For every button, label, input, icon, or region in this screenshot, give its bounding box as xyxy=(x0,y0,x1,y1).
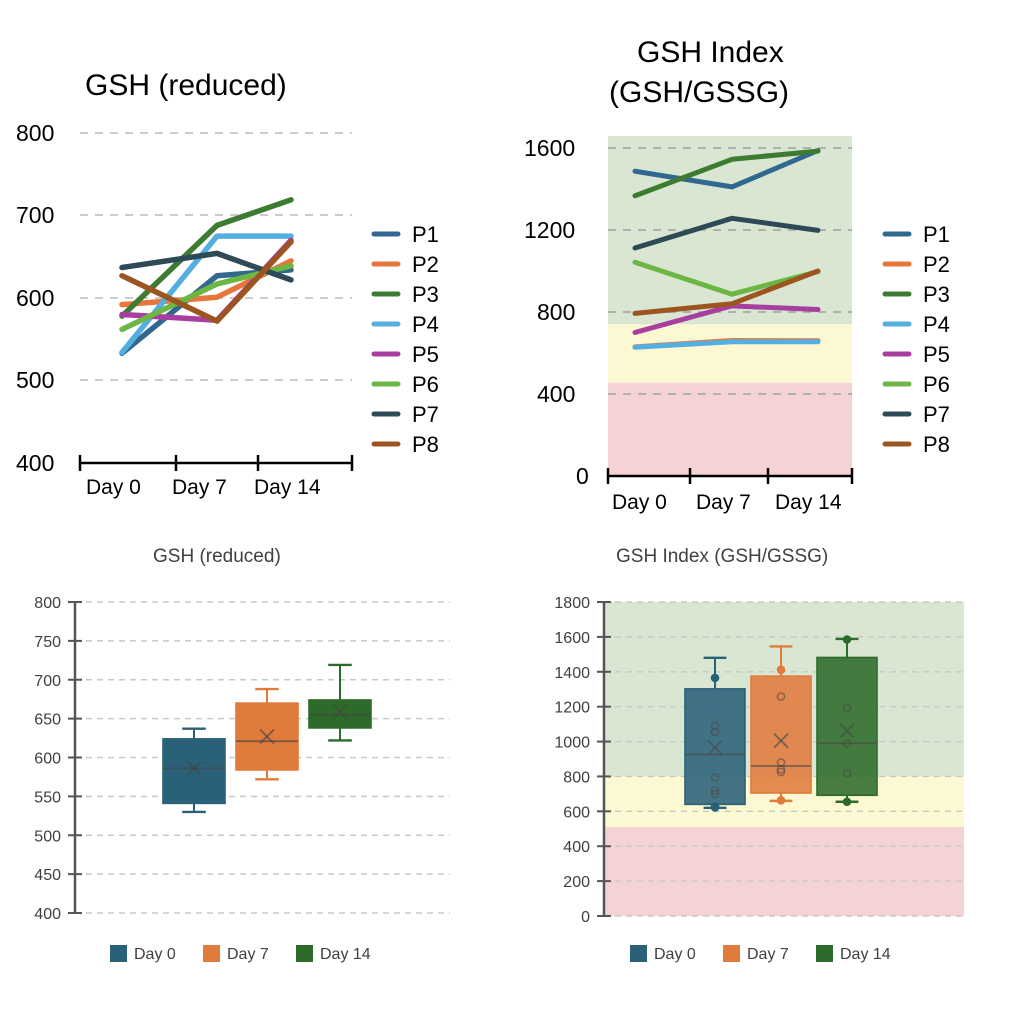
bottom-left-ytick-label: 600 xyxy=(34,751,61,768)
bottom-left-box-day-0 xyxy=(163,729,225,812)
legend-label-day-14: Day 14 xyxy=(840,946,891,963)
svg-text:Day 7: Day 7 xyxy=(696,491,751,514)
top-left-series-p1 xyxy=(122,270,291,353)
bottom-left-ytick-labels: 800750700650600550500450400 xyxy=(34,595,61,923)
bottom-left-ytick-label: 800 xyxy=(34,595,61,612)
top-left-legend-label-p5: P5 xyxy=(412,342,439,367)
bottom-left-title: GSH (reduced) xyxy=(153,546,281,567)
legend-label-day-0: Day 0 xyxy=(654,946,696,963)
legend-swatch-day-0 xyxy=(110,945,127,962)
legend-label-day-7: Day 7 xyxy=(227,946,269,963)
data-point xyxy=(843,798,850,805)
svg-text:1600: 1600 xyxy=(524,135,575,161)
legend-label-day-0: Day 0 xyxy=(134,946,176,963)
legend-label-day-7: Day 7 xyxy=(747,946,789,963)
bottom-left-ytick-label: 550 xyxy=(34,789,61,806)
top-right-legend-label-p4: P4 xyxy=(923,312,950,337)
top-right-legend-label-p3: P3 xyxy=(923,282,950,307)
top-left-legend-label-p7: P7 xyxy=(412,402,439,427)
top-left-xaxis xyxy=(80,455,352,471)
top-right-band-low xyxy=(608,383,852,476)
bottom-left-box-day-14 xyxy=(309,665,371,740)
bottom-right-ytick-label: 1000 xyxy=(554,735,590,752)
top-right-legend: P1P2P3P4P5P6P7P8 xyxy=(885,222,950,457)
top-right-legend-label-p2: P2 xyxy=(923,252,950,277)
panel-bottom-right-box-chart: GSH Index (GSH/GSSG) 1800160014001200100… xyxy=(500,520,1015,1024)
top-left-legend-label-p3: P3 xyxy=(412,282,439,307)
bottom-right-title: GSH Index (GSH/GSSG) xyxy=(616,546,828,567)
bottom-right-box-day-14 xyxy=(817,636,877,805)
svg-text:800: 800 xyxy=(537,299,575,325)
top-left-legend-label-p4: P4 xyxy=(412,312,439,337)
top-left-title: GSH (reduced) xyxy=(85,69,287,102)
svg-text:Day 0: Day 0 xyxy=(612,491,667,514)
bottom-right-ytick-label: 1600 xyxy=(554,630,590,647)
bottom-left-ytick-label: 500 xyxy=(34,828,61,845)
top-right-legend-label-p1: P1 xyxy=(923,222,950,247)
svg-text:500: 500 xyxy=(16,367,54,393)
top-right-band-borderline xyxy=(608,324,852,382)
svg-text:Day 14: Day 14 xyxy=(775,491,842,514)
top-right-ytick-labels: 1600 1200 800 400 0 xyxy=(524,135,589,489)
top-right-title-line1: GSH Index xyxy=(637,36,784,69)
top-right-legend-label-p7: P7 xyxy=(923,402,950,427)
bottom-right-ytick-label: 800 xyxy=(563,769,590,786)
bottom-right-ytick-label: 400 xyxy=(563,839,590,856)
top-right-legend-label-p8: P8 xyxy=(923,432,950,457)
bottom-right-legend: Day 0Day 7Day 14 xyxy=(630,945,891,963)
legend-swatch-day-7 xyxy=(723,945,740,962)
svg-text:Day 0: Day 0 xyxy=(86,476,141,499)
bottom-right-band-low xyxy=(604,827,964,916)
top-right-svg: GSH Index (GSH/GSSG) 1600 1200 800 400 0… xyxy=(500,0,1015,520)
bottom-left-ytick-label: 400 xyxy=(34,906,61,923)
top-left-legend-label-p8: P8 xyxy=(412,432,439,457)
svg-text:400: 400 xyxy=(16,450,54,476)
top-right-title-line2: (GSH/GSSG) xyxy=(609,76,789,109)
top-right-xcat-labels: Day 0 Day 7 Day 14 xyxy=(612,491,842,514)
bottom-right-ytick-label: 1400 xyxy=(554,665,590,682)
bottom-left-ytick-label: 650 xyxy=(34,712,61,729)
svg-text:0: 0 xyxy=(576,463,589,489)
legend-swatch-day-14 xyxy=(296,945,313,962)
svg-text:1200: 1200 xyxy=(524,217,575,243)
bottom-right-ytick-label: 600 xyxy=(563,804,590,821)
bottom-right-ytick-label: 1200 xyxy=(554,700,590,717)
bottom-left-svg: GSH (reduced) 80075070065060055050045040… xyxy=(0,520,500,1024)
svg-text:Day 14: Day 14 xyxy=(254,476,321,499)
bottom-left-legend: Day 0Day 7Day 14 xyxy=(110,945,371,963)
bottom-right-ytick-label: 0 xyxy=(581,909,590,926)
top-left-legend: P1P2P3P4P5P6P7P8 xyxy=(374,222,439,457)
bottom-right-ytick-label: 200 xyxy=(563,874,590,891)
bottom-left-ytick-label: 700 xyxy=(34,673,61,690)
bottom-right-svg: GSH Index (GSH/GSSG) 1800160014001200100… xyxy=(500,520,1015,1024)
bottom-left-box-day-7 xyxy=(236,689,298,779)
top-left-legend-label-p2: P2 xyxy=(412,252,439,277)
data-point xyxy=(777,666,784,673)
top-left-gridlines xyxy=(80,133,352,380)
top-left-series-lines xyxy=(122,200,291,353)
bottom-right-ytick-labels: 180016001400120010008006004002000 xyxy=(554,595,590,926)
legend-label-day-14: Day 14 xyxy=(320,946,371,963)
legend-swatch-day-0 xyxy=(630,945,647,962)
top-right-legend-label-p5: P5 xyxy=(923,342,950,367)
legend-swatch-day-14 xyxy=(816,945,833,962)
svg-text:600: 600 xyxy=(16,285,54,311)
svg-text:Day 7: Day 7 xyxy=(172,476,227,499)
svg-text:400: 400 xyxy=(537,381,575,407)
legend-swatch-day-7 xyxy=(203,945,220,962)
svg-text:800: 800 xyxy=(16,120,54,146)
top-left-xcat-labels: Day 0 Day 7 Day 14 xyxy=(86,476,321,499)
top-left-svg: GSH (reduced) 800 700 600 500 400 Day 0 … xyxy=(0,0,500,520)
panel-top-left-line-chart: GSH (reduced) 800 700 600 500 400 Day 0 … xyxy=(0,0,500,520)
bottom-right-ytick-label: 1800 xyxy=(554,595,590,612)
data-point xyxy=(777,797,784,804)
bottom-left-ytick-label: 450 xyxy=(34,867,61,884)
panel-top-right-line-chart: GSH Index (GSH/GSSG) 1600 1200 800 400 0… xyxy=(500,0,1015,520)
top-left-legend-label-p1: P1 xyxy=(412,222,439,247)
top-right-legend-label-p6: P6 xyxy=(923,372,950,397)
data-point xyxy=(711,804,718,811)
bottom-left-boxes xyxy=(163,665,371,812)
bottom-left-ytick-label: 750 xyxy=(34,634,61,651)
top-left-ytick-labels: 800 700 600 500 400 xyxy=(16,120,54,476)
panel-bottom-left-box-chart: GSH (reduced) 80075070065060055050045040… xyxy=(0,520,500,1024)
top-left-legend-label-p6: P6 xyxy=(412,372,439,397)
data-point xyxy=(843,636,850,643)
data-point xyxy=(711,674,718,681)
svg-text:700: 700 xyxy=(16,202,54,228)
